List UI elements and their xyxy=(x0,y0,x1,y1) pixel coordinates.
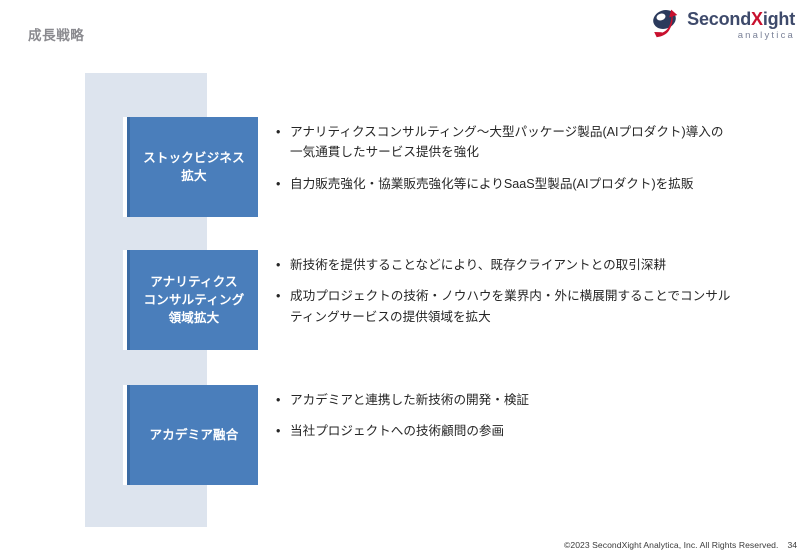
bullet-marker-icon: • xyxy=(276,174,290,194)
strategy-chip-analytics-consulting: アナリティクスコンサルティング領域拡大 xyxy=(127,250,258,350)
logo-word-x: X xyxy=(751,9,763,29)
slide-footer: ©2023 SecondXight Analytica, Inc. All Ri… xyxy=(564,540,797,550)
bullet-text: 新技術を提供することなどにより、既存クライアントとの取引深耕 xyxy=(290,255,736,275)
bullet-text: 成功プロジェクトの技術・ノウハウを業界内・外に横展開することでコンサルティングサ… xyxy=(290,286,736,327)
chip-label: ストックビジネス拡大 xyxy=(139,149,249,185)
chip-wrapper: アナリティクスコンサルティング領域拡大 xyxy=(127,250,258,350)
list-item: • アカデミアと連携した新技術の開発・検証 xyxy=(276,390,736,410)
list-item: • 成功プロジェクトの技術・ノウハウを業界内・外に横展開することでコンサルティン… xyxy=(276,286,736,327)
page-title: 成長戦略 xyxy=(28,24,84,44)
bullet-list: • 新技術を提供することなどにより、既存クライアントとの取引深耕 • 成功プロジ… xyxy=(276,250,736,327)
bullet-marker-icon: • xyxy=(276,286,290,306)
logo-word-part1: Second xyxy=(687,9,751,29)
brand-logo: SecondXight analytica xyxy=(650,8,795,44)
logo-wordmark: SecondXight xyxy=(687,10,795,28)
chip-label: アカデミア融合 xyxy=(146,426,243,444)
chip-label: アナリティクスコンサルティング領域拡大 xyxy=(140,273,249,327)
list-item: • 自力販売強化・協業販売強化等によりSaaS型製品(AIプロダクト)を拡販 xyxy=(276,174,736,194)
chip-wrapper: ストックビジネス拡大 xyxy=(127,117,258,217)
strategy-chip-stock-business: ストックビジネス拡大 xyxy=(127,117,258,217)
list-item: • アナリティクスコンサルティング〜大型パッケージ製品(AIプロダクト)導入の一… xyxy=(276,122,736,163)
page-number: 34 xyxy=(787,540,797,550)
bullet-list: • アナリティクスコンサルティング〜大型パッケージ製品(AIプロダクト)導入の一… xyxy=(276,117,736,194)
logo-subtitle: analytica xyxy=(738,31,795,41)
strategy-chip-academia-fusion: アカデミア融合 xyxy=(127,385,258,485)
bullet-text: アナリティクスコンサルティング〜大型パッケージ製品(AIプロダクト)導入の一気通… xyxy=(290,122,736,163)
logo-text-block: SecondXight analytica xyxy=(687,8,795,41)
slide-root: 成長戦略 SecondXight analytica ストックビジネス拡大 • … xyxy=(0,0,809,557)
strategy-row: アナリティクスコンサルティング領域拡大 • 新技術を提供することなどにより、既存… xyxy=(0,250,809,350)
list-item: • 当社プロジェクトへの技術顧問の参画 xyxy=(276,421,736,441)
bullet-text: 自力販売強化・協業販売強化等によりSaaS型製品(AIプロダクト)を拡販 xyxy=(290,174,736,194)
strategy-row: アカデミア融合 • アカデミアと連携した新技術の開発・検証 • 当社プロジェクト… xyxy=(0,385,809,485)
bullet-marker-icon: • xyxy=(276,421,290,441)
bullet-marker-icon: • xyxy=(276,122,290,142)
secondxight-emblem-icon xyxy=(650,8,684,40)
bullet-marker-icon: • xyxy=(276,390,290,410)
bullet-text: 当社プロジェクトへの技術顧問の参画 xyxy=(290,421,736,441)
copyright-text: ©2023 SecondXight Analytica, Inc. All Ri… xyxy=(564,540,778,550)
list-item: • 新技術を提供することなどにより、既存クライアントとの取引深耕 xyxy=(276,255,736,275)
bullet-text: アカデミアと連携した新技術の開発・検証 xyxy=(290,390,736,410)
bullet-list: • アカデミアと連携した新技術の開発・検証 • 当社プロジェクトへの技術顧問の参… xyxy=(276,385,736,442)
logo-word-part2: ight xyxy=(763,9,795,29)
strategy-row: ストックビジネス拡大 • アナリティクスコンサルティング〜大型パッケージ製品(A… xyxy=(0,117,809,217)
bullet-marker-icon: • xyxy=(276,255,290,275)
chip-wrapper: アカデミア融合 xyxy=(127,385,258,485)
